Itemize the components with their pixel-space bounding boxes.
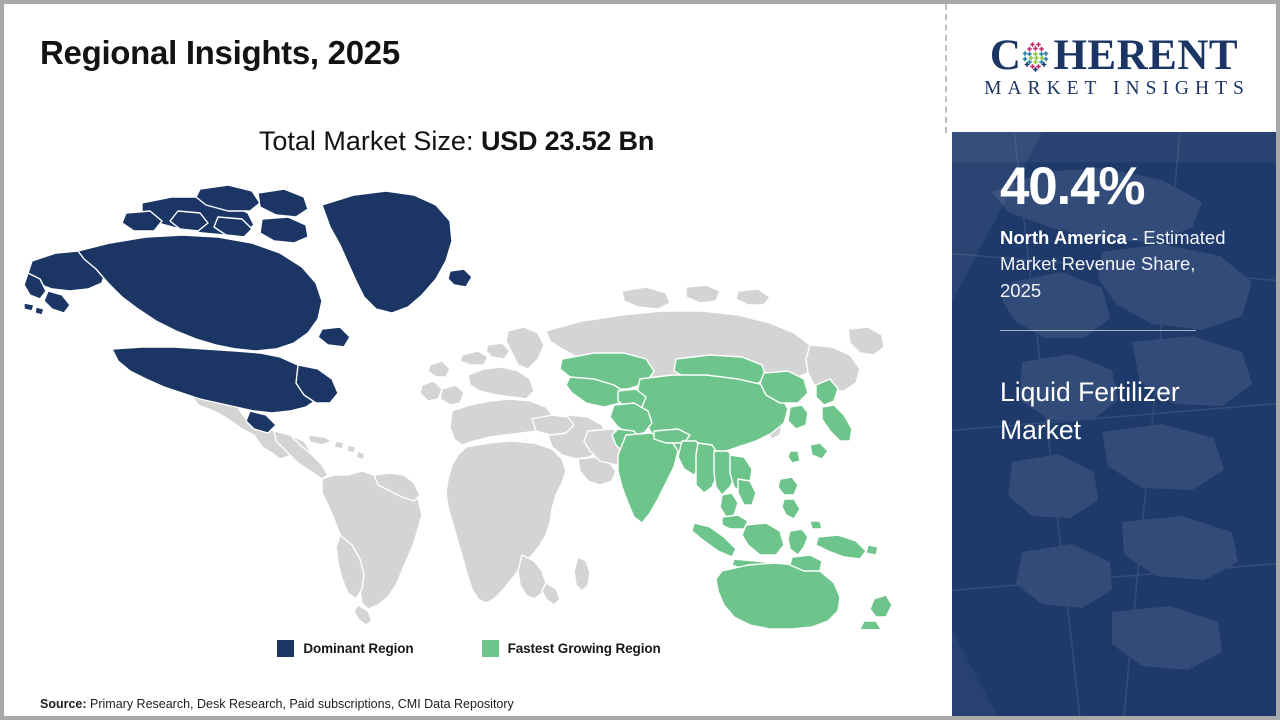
logo-wordmark: C [966,36,1262,77]
globe-dotted-icon [1020,41,1053,74]
panel-content: 40.4% North America - Estimated Market R… [1000,160,1240,450]
source-note: Source: Primary Research, Desk Research,… [40,697,514,711]
page-title: Regional Insights, 2025 [40,34,400,72]
stat-value: 40.4% [1000,160,1240,213]
panel-divider-rule [1000,330,1196,331]
stat-description: North America - Estimated Market Revenue… [1000,225,1240,304]
coherent-market-insights-logo: C [966,36,1262,100]
source-text: Primary Research, Desk Research, Paid su… [87,697,514,711]
world-map-svg [22,179,902,629]
logo-word-after: HERENT [1053,36,1238,77]
green-square-swatch [482,640,499,657]
source-prefix: Source: [40,697,87,711]
market-name: Liquid Fertilizer Market [1000,373,1240,450]
stat-region-name: North America [1000,227,1127,248]
legend-label-fastest-growing: Fastest Growing Region [508,641,661,656]
legend-label-dominant: Dominant Region [303,641,413,656]
regional-stat-panel: 40.4% North America - Estimated Market R… [952,132,1276,716]
map-region-dominant [24,185,472,433]
world-map [22,179,902,629]
total-market-size: Total Market Size: USD 23.52 Bn [4,126,909,157]
market-size-value: USD 23.52 Bn [481,126,654,156]
legend-item-dominant: Dominant Region [277,640,413,657]
vertical-dashed-divider [945,4,947,133]
navy-square-swatch [277,640,294,657]
infographic-frame: Regional Insights, 2025 Total Market Siz… [0,0,1280,720]
logo-word-before: C [990,36,1022,77]
map-region-fastest-growing [560,353,892,629]
legend-item-fastest-growing: Fastest Growing Region [482,640,661,657]
market-size-label: Total Market Size: [259,126,481,156]
brand-logo-box: C [952,4,1276,132]
logo-subtitle: MARKET INSIGHTS [978,78,1250,100]
left-content-pane: Regional Insights, 2025 Total Market Siz… [4,4,949,716]
map-legend: Dominant Region Fastest Growing Region [4,640,934,657]
